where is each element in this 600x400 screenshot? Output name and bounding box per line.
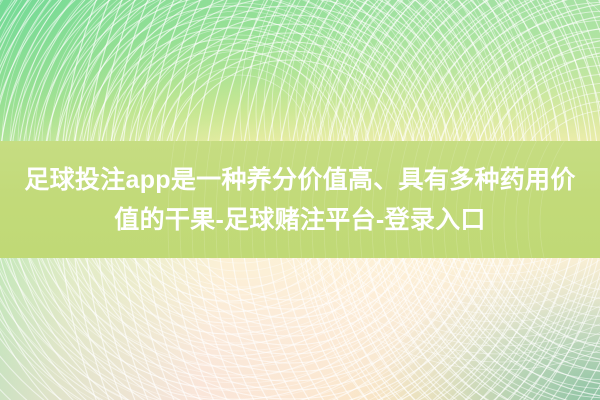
- page-title-line-1: 足球投注app是一种养分价值高、具有多种药用价: [10, 160, 590, 200]
- promo-banner: 足球投注app是一种养分价值高、具有多种药用价 值的干果-足球赌注平台-登录入口: [0, 0, 600, 400]
- page-title: 足球投注app是一种养分价值高、具有多种药用价 值的干果-足球赌注平台-登录入口: [10, 160, 590, 240]
- title-band: 足球投注app是一种养分价值高、具有多种药用价 值的干果-足球赌注平台-登录入口: [0, 141, 600, 258]
- page-title-line-2: 值的干果-足球赌注平台-登录入口: [10, 200, 590, 240]
